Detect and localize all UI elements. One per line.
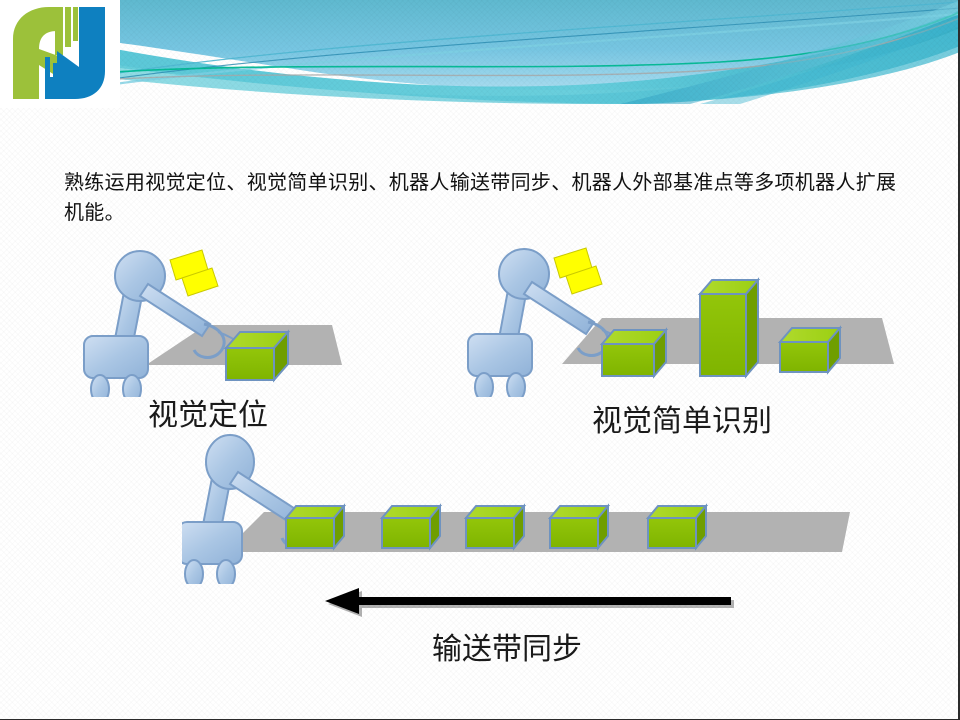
figure-vision-locate xyxy=(78,232,388,402)
caption-conveyor-sync: 输送带同步 xyxy=(432,624,582,668)
robot-foot-left xyxy=(185,560,203,584)
green-box-2 xyxy=(382,506,440,548)
green-box-tall xyxy=(700,280,758,376)
green-box-5 xyxy=(648,506,706,548)
robot-foot-right xyxy=(507,373,525,397)
vision-camera-icon xyxy=(554,248,602,294)
robot-foot-right xyxy=(123,375,141,397)
figure-vision-recognize xyxy=(462,232,902,402)
robot-foot-right xyxy=(217,560,235,584)
green-box-3 xyxy=(466,506,524,548)
body-paragraph: 熟练运用视觉定位、视觉简单识别、机器人输送带同步、机器人外部基准点等多项机器人扩… xyxy=(64,168,904,228)
robot-base xyxy=(84,336,148,378)
robot-base xyxy=(468,334,532,376)
robot-conveyor-sync-illustration xyxy=(182,434,862,584)
figure-conveyor-sync xyxy=(182,434,862,589)
robot-foot-left xyxy=(91,375,109,397)
caption-vision-locate: 视觉定位 xyxy=(148,390,268,434)
green-box-4 xyxy=(550,506,608,548)
green-box xyxy=(226,332,288,380)
company-logo[interactable] xyxy=(0,0,120,108)
left-arrow-icon xyxy=(325,586,735,618)
vision-camera-icon xyxy=(170,250,218,296)
slide-canvas: 熟练运用视觉定位、视觉简单识别、机器人输送带同步、机器人外部基准点等多项机器人扩… xyxy=(0,0,960,720)
header-banner xyxy=(0,0,960,104)
green-box-1 xyxy=(286,506,344,548)
conveyor-direction-arrow xyxy=(325,586,735,623)
robot-vision-locate-illustration xyxy=(78,232,388,397)
robot-vision-recognize-illustration xyxy=(462,232,902,397)
logo-n-mark-icon xyxy=(1,1,119,107)
green-box-small-1 xyxy=(602,330,666,376)
robot-base xyxy=(182,522,242,564)
banner-wave-graphic xyxy=(0,0,960,104)
green-box-small-2 xyxy=(780,328,840,372)
robot-foot-left xyxy=(475,373,493,397)
